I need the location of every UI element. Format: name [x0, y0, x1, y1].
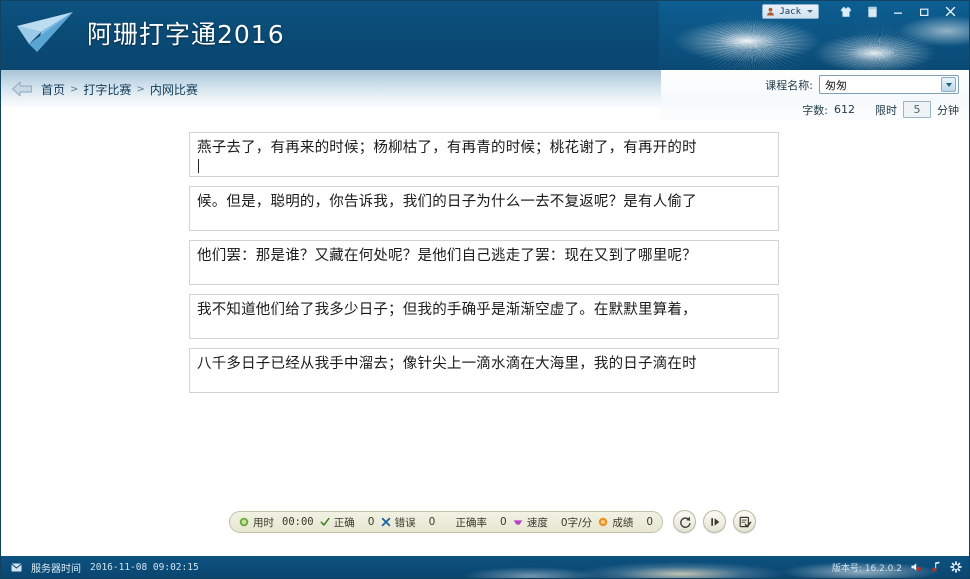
user-icon — [766, 7, 775, 16]
line-text: 他们罢：那是谁？又藏在何处呢？是他们自己逃走了罢：现在又到了哪里呢？ — [197, 247, 770, 266]
start-pause-button[interactable] — [703, 510, 726, 533]
settings-gear-icon[interactable] — [950, 561, 962, 573]
maximize-icon — [917, 6, 931, 18]
stat-label: 速度 — [527, 515, 548, 530]
time-limit-unit: 分钟 — [937, 102, 959, 118]
stat-elapsed-time: 用时 00:00 — [239, 515, 314, 530]
fullscreen-button[interactable] — [859, 2, 885, 22]
wordcount-value: 612 — [834, 103, 855, 116]
chevron-down-icon[interactable] — [941, 77, 956, 92]
skin-button[interactable] — [833, 2, 859, 22]
check-green-icon — [320, 517, 330, 527]
maximize-button[interactable] — [911, 2, 937, 22]
speed-purple-icon — [513, 517, 523, 527]
typing-line-1[interactable]: 燕子去了，有再来的时候；杨柳枯了，有再青的时候；桃花谢了，有再开的时 — [189, 132, 779, 177]
stat-value: 00:00 — [282, 516, 314, 528]
main-content: 燕子去了，有再来的时候；杨柳枯了，有再青的时候；桃花谢了，有再开的时 候。但是，… — [1, 108, 969, 518]
stat-label: 成绩 — [612, 515, 633, 530]
minimize-button[interactable] — [885, 2, 911, 22]
app-window: 阿珊打字通2016 Jack — [0, 0, 970, 579]
time-limit-label: 限时 — [875, 102, 897, 118]
paper-plane-icon — [15, 10, 77, 56]
typing-line-2[interactable]: 候。但是，聪明的，你告诉我，我们的日子为什么一去不复返呢？是有人偷了 — [189, 186, 779, 231]
stats-bar: 用时 00:00 正确 0 错误 0 — [229, 511, 663, 533]
stat-score: 成绩 0 — [598, 515, 653, 530]
stat-value: 0 — [429, 516, 436, 528]
server-time-value: 2016-11-08 09:02:15 — [90, 562, 199, 573]
accuracy-orange-icon — [442, 517, 452, 527]
window-controls: Jack — [762, 1, 963, 22]
course-meta-row: 字数: 612 限时 5 分钟 — [661, 101, 959, 118]
typing-lines: 燕子去了，有再来的时候；杨柳枯了，有再青的时候；桃花谢了，有再开的时 候。但是，… — [189, 132, 779, 402]
breadcrumb-item-home[interactable]: 首页 — [41, 81, 65, 98]
app-header: 阿珊打字通2016 Jack — [1, 1, 969, 70]
stat-label: 正确率 — [456, 515, 488, 530]
status-bar: 服务器时间 2016-11-08 09:02:15 版本号: 16.2.0.2 — [1, 556, 969, 578]
breadcrumb-separator: > — [136, 84, 144, 95]
stat-value: 0 — [368, 516, 375, 528]
window-icon — [867, 6, 878, 18]
stat-speed: 速度 0字/分 — [513, 515, 592, 530]
course-settings-panel: 课程名称: 匆匆 字数: 612 限时 5 分钟 — [661, 70, 969, 120]
stat-label: 错误 — [395, 515, 416, 530]
wordcount-label: 字数: — [802, 102, 828, 118]
close-button[interactable] — [937, 2, 963, 22]
stat-correct: 正确 0 — [320, 515, 375, 530]
minimize-icon — [891, 6, 905, 18]
user-menu-button[interactable]: Jack — [762, 4, 819, 19]
stat-accuracy: 正确率 0 — [442, 515, 507, 530]
stat-value: 0 — [646, 516, 653, 528]
refresh-icon — [678, 515, 692, 529]
course-name-row: 课程名称: 匆匆 — [661, 75, 959, 94]
volume-icon[interactable] — [910, 561, 922, 573]
text-caret — [198, 159, 199, 173]
typing-line-4[interactable]: 我不知道他们给了我多少日子；但我的手确乎是渐渐空虚了。在默默里算着， — [189, 294, 779, 339]
restart-button[interactable] — [673, 510, 696, 533]
mail-icon[interactable] — [11, 563, 22, 572]
breadcrumb-bar: 首页 > 打字比赛 > 内网比赛 — [1, 70, 661, 108]
stat-value: 0字/分 — [561, 515, 592, 530]
submit-check-icon — [738, 515, 752, 529]
play-pause-icon — [708, 515, 722, 529]
stat-label: 正确 — [334, 515, 355, 530]
stat-label: 用时 — [253, 515, 274, 530]
back-arrow-icon[interactable] — [11, 79, 33, 99]
breadcrumb-separator: > — [70, 84, 78, 95]
server-time-label: 服务器时间 — [31, 560, 81, 575]
brand-title: 阿珊打字通2016 — [87, 15, 285, 51]
line-text: 我不知道他们给了我多少日子；但我的手确乎是渐渐空虚了。在默默里算着， — [197, 301, 770, 320]
line-text: 燕子去了，有再来的时候；杨柳枯了，有再青的时候；桃花谢了，有再开的时 — [197, 139, 770, 158]
user-name: Jack — [779, 7, 801, 17]
breadcrumb-item-intranet-contest[interactable]: 内网比赛 — [150, 81, 198, 98]
app-logo-area: 阿珊打字通2016 — [15, 10, 285, 56]
status-bar-right: 版本号: 16.2.0.2 — [832, 556, 962, 578]
score-orange-icon — [598, 517, 608, 527]
time-limit-input[interactable]: 5 — [903, 101, 931, 118]
typing-line-5[interactable]: 八千多日子已经从我手中溜去；像针尖上一滴水滴在大海里，我的日子滴在时 — [189, 348, 779, 393]
line-text: 八千多日子已经从我手中溜去；像针尖上一滴水滴在大海里，我的日子滴在时 — [197, 355, 770, 374]
stat-value: 0 — [500, 516, 507, 528]
music-note-icon[interactable] — [930, 561, 942, 573]
submit-button[interactable] — [733, 510, 756, 533]
typing-line-3[interactable]: 他们罢：那是谁？又藏在何处呢？是他们自己逃走了罢：现在又到了哪里呢？ — [189, 240, 779, 285]
breadcrumb: 首页 > 打字比赛 > 内网比赛 — [41, 81, 198, 98]
course-select-value: 匆匆 — [825, 77, 847, 93]
course-name-label: 课程名称: — [765, 77, 813, 93]
clock-green-icon — [239, 517, 249, 527]
breadcrumb-item-typing-contest[interactable]: 打字比赛 — [83, 81, 131, 98]
cross-blue-icon — [381, 517, 391, 527]
course-select[interactable]: 匆匆 — [819, 75, 959, 94]
version-label: 版本号: 16.2.0.2 — [832, 561, 902, 574]
chevron-down-icon — [807, 10, 813, 13]
shirt-icon — [840, 6, 852, 18]
stat-errors: 错误 0 — [381, 515, 436, 530]
close-icon — [943, 5, 958, 18]
line-text: 候。但是，聪明的，你告诉我，我们的日子为什么一去不复返呢？是有人偷了 — [197, 193, 770, 212]
action-buttons — [673, 510, 756, 533]
